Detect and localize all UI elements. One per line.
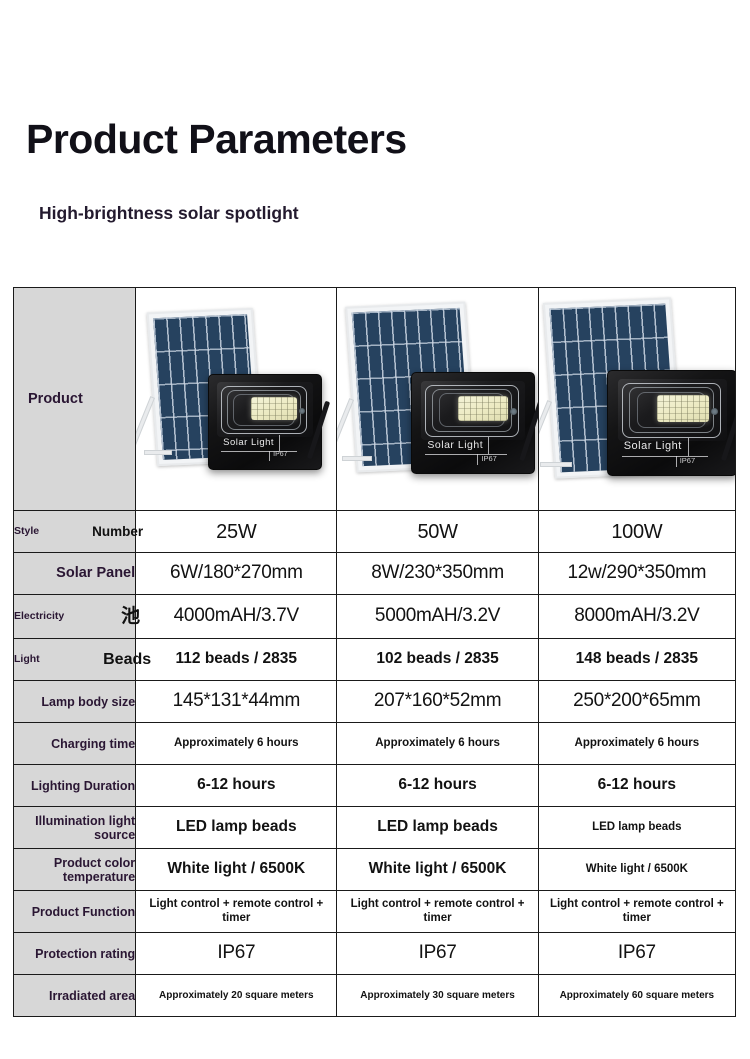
value-solar-panel-100w: 12w/290*350mm [538, 553, 735, 595]
panel-foot-icon [342, 456, 372, 461]
product-image-cell-25w: Solar Light IP67 [136, 288, 337, 511]
value-irradiated-area-50w: Approximately 30 square meters [337, 975, 538, 1017]
value-lamp-body-size-100w: 250*200*65mm [538, 681, 735, 723]
row-label-product-function: Product Function [14, 891, 136, 933]
value-product-function-50w: Light control + remote control + timer [337, 891, 538, 933]
floodlight-icon: Solar Light IP67 [208, 374, 322, 470]
row-label-illumination-source: Illumination light source [14, 807, 136, 849]
value-illumination-source-25w: LED lamp beads [136, 807, 337, 849]
row-label-style: Style [14, 526, 39, 538]
value-lighting-duration-50w: 6-12 hours [337, 765, 538, 807]
row-label-lighting-duration: Lighting Duration [14, 765, 136, 807]
value-lamp-body-size-25w: 145*131*44mm [136, 681, 337, 723]
value-illumination-source-100w: LED lamp beads [538, 807, 735, 849]
floodlight-icon: Solar Light IP67 [411, 372, 535, 474]
table-row-lighting-duration: Lighting Duration 6-12 hours 6-12 hours … [14, 765, 736, 807]
row-label-color-temperature: Product color temperature [14, 849, 136, 891]
table-row-product: Product [14, 288, 736, 511]
value-light-beads-50w: 102 beads / 2835 [337, 639, 538, 681]
value-light-beads-100w: 148 beads / 2835 [538, 639, 735, 681]
product-scene: Solar Light IP67 [136, 288, 336, 510]
value-illumination-source-50w: LED lamp beads [337, 807, 538, 849]
value-battery-25w: 4000mAH/3.7V [136, 595, 337, 639]
table-row-illumination-source: Illumination light source LED lamp beads… [14, 807, 736, 849]
floodlight-brand-label: Solar Light [624, 440, 682, 453]
table-row-light-beads: Light Beads 112 beads / 2835 102 beads /… [14, 639, 736, 681]
value-light-beads-25w: 112 beads / 2835 [136, 639, 337, 681]
table-row-protection-rating: Protection rating IP67 IP67 IP67 [14, 933, 736, 975]
table-row-charging-time: Charging time Approximately 6 hours Appr… [14, 723, 736, 765]
value-protection-rating-25w: IP67 [136, 933, 337, 975]
value-protection-rating-100w: IP67 [538, 933, 735, 975]
row-label-beads: Beads [103, 651, 151, 669]
value-battery-100w: 8000mAH/3.2V [538, 595, 735, 639]
table-row-lamp-body-size: Lamp body size 145*131*44mm 207*160*52mm… [14, 681, 736, 723]
product-image-cell-50w: Solar Light IP67 [337, 288, 538, 511]
product-scene: Solar Light IP67 [539, 288, 735, 510]
value-color-temperature-25w: White light / 6500K [136, 849, 337, 891]
floodlight-icon: Solar Light IP67 [607, 370, 735, 476]
page-subtitle: High-brightness solar spotlight [39, 203, 299, 224]
value-color-temperature-50w: White light / 6500K [337, 849, 538, 891]
value-lamp-body-size-50w: 207*160*52mm [337, 681, 538, 723]
floodlight-brand-label: Solar Light [427, 439, 483, 452]
product-image-cell-100w: Solar Light IP67 [538, 288, 735, 511]
floodlight-ip-label: IP67 [273, 451, 287, 459]
value-charging-time-100w: Approximately 6 hours [538, 723, 735, 765]
floodlight-ip-label: IP67 [481, 454, 496, 463]
floodlight-ip-label: IP67 [680, 456, 695, 465]
row-label-solar-panel: Solar Panel [14, 553, 136, 595]
row-label-battery: Electricity 池 [14, 595, 136, 639]
row-label-number: Number [92, 524, 143, 539]
row-label-charging-time: Charging time [14, 723, 136, 765]
panel-foot-icon [540, 462, 572, 467]
product-parameters-table: Product [13, 287, 736, 1017]
product-scene: Solar Light IP67 [337, 288, 537, 510]
row-label-irradiated-area: Irradiated area [14, 975, 136, 1017]
table-row-battery: Electricity 池 4000mAH/3.7V 5000mAH/3.2V … [14, 595, 736, 639]
value-protection-rating-50w: IP67 [337, 933, 538, 975]
value-battery-50w: 5000mAH/3.2V [337, 595, 538, 639]
value-product-function-100w: Light control + remote control + timer [538, 891, 735, 933]
value-solar-panel-50w: 8W/230*350mm [337, 553, 538, 595]
page-title: Product Parameters [26, 116, 407, 163]
floodlight-brand-label: Solar Light [223, 437, 274, 448]
value-solar-panel-25w: 6W/180*270mm [136, 553, 337, 595]
table-row-irradiated-area: Irradiated area Approximately 20 square … [14, 975, 736, 1017]
row-label-lamp-body-size: Lamp body size [14, 681, 136, 723]
value-lighting-duration-100w: 6-12 hours [538, 765, 735, 807]
value-style-number-50w: 50W [337, 511, 538, 553]
value-irradiated-area-25w: Approximately 20 square meters [136, 975, 337, 1017]
table-row-color-temperature: Product color temperature White light / … [14, 849, 736, 891]
value-lighting-duration-25w: 6-12 hours [136, 765, 337, 807]
row-label-protection-rating: Protection rating [14, 933, 136, 975]
table-row-solar-panel: Solar Panel 6W/180*270mm 8W/230*350mm 12… [14, 553, 736, 595]
value-product-function-25w: Light control + remote control + timer [136, 891, 337, 933]
value-charging-time-50w: Approximately 6 hours [337, 723, 538, 765]
value-irradiated-area-100w: Approximately 60 square meters [538, 975, 735, 1017]
row-label-light: Light [14, 654, 40, 666]
row-label-battery-cjk: 池 [121, 606, 140, 627]
row-label-style-number: Style Number [14, 511, 136, 553]
value-style-number-100w: 100W [538, 511, 735, 553]
value-style-number-25w: 25W [136, 511, 337, 553]
panel-foot-icon [144, 450, 172, 455]
value-charging-time-25w: Approximately 6 hours [136, 723, 337, 765]
row-label-electricity: Electricity [14, 611, 64, 623]
table-row-product-function: Product Function Light control + remote … [14, 891, 736, 933]
table-row-style-number: Style Number 25W 50W 100W [14, 511, 736, 553]
row-label-product: Product [14, 288, 136, 511]
value-color-temperature-100w: White light / 6500K [538, 849, 735, 891]
row-label-light-beads: Light Beads [14, 639, 136, 681]
